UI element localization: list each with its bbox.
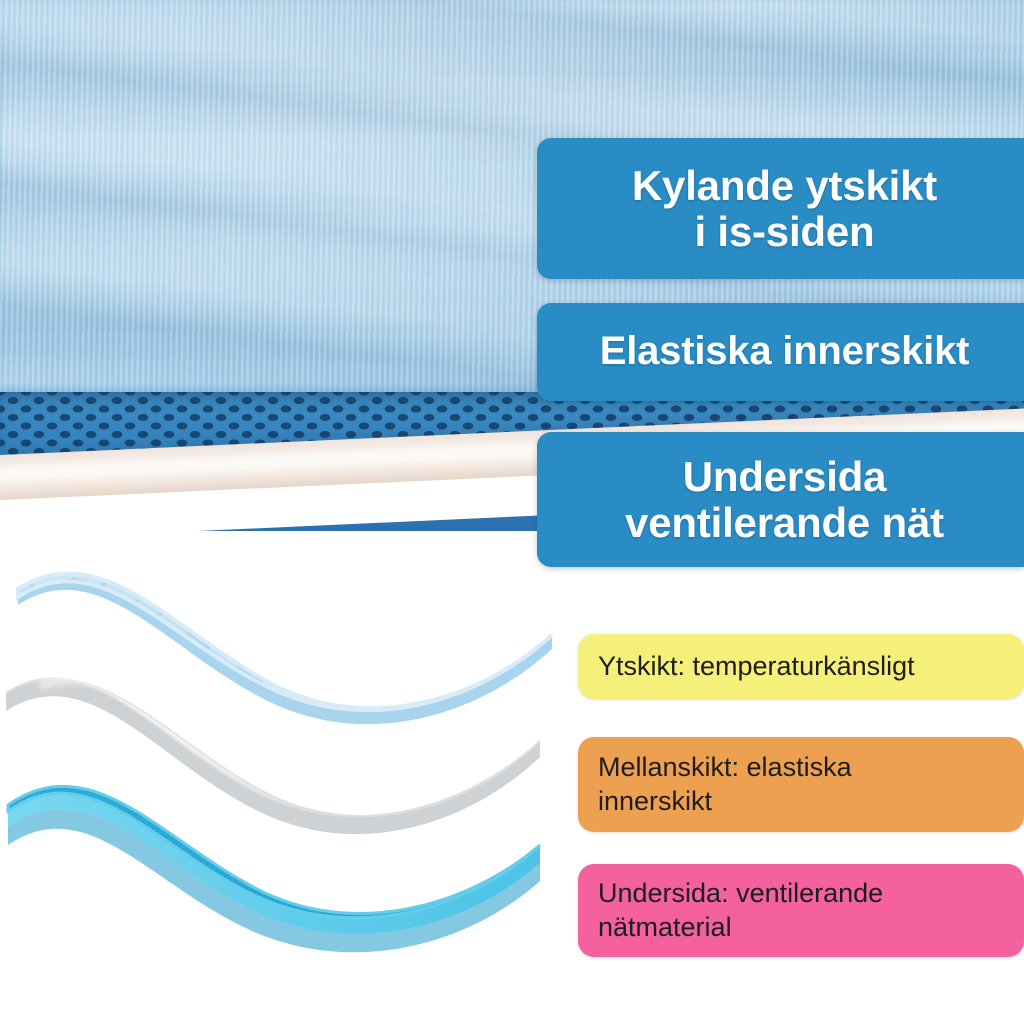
infographic-page: Kylande ytskikt i is-siden Elastiska inn… bbox=[0, 0, 1024, 1024]
tag-mellanskikt: Mellanskikt: elastiska innerskikt bbox=[578, 737, 1024, 832]
tag-line-1: Mellanskikt: elastiska bbox=[598, 752, 852, 782]
tag-ytskikt: Ytskikt: temperaturkänsligt bbox=[578, 634, 1024, 699]
tag-line-1: Ytskikt: temperaturkänsligt bbox=[598, 651, 915, 681]
callout-elastiska-innerskikt: Elastiska innerskikt bbox=[537, 303, 1024, 401]
callout-undersida-ventilerande-nat: Undersida ventilerande nät bbox=[537, 432, 1024, 567]
callout-line-1: Undersida bbox=[625, 454, 944, 499]
callout-line-2: ventilerande nät bbox=[625, 500, 944, 545]
exploded-layer-diagram bbox=[0, 545, 575, 985]
tag-line-2: innerskikt bbox=[598, 786, 712, 816]
callout-line-2: i is-siden bbox=[632, 209, 937, 254]
callout-line-1: Kylande ytskikt bbox=[632, 163, 937, 208]
callout-kylande-ytskikt: Kylande ytskikt i is-siden bbox=[537, 138, 1024, 279]
tag-line-1: Undersida: ventilerande bbox=[598, 878, 883, 908]
callout-line-1: Elastiska innerskikt bbox=[600, 330, 970, 373]
tag-line-2: nätmaterial bbox=[598, 912, 732, 942]
tag-undersida: Undersida: ventilerande nätmaterial bbox=[578, 864, 1024, 957]
